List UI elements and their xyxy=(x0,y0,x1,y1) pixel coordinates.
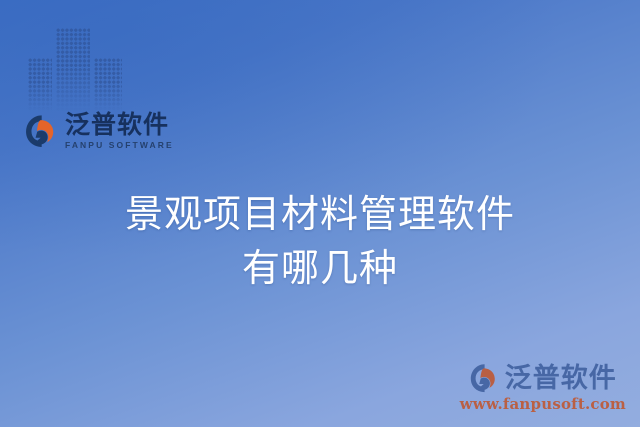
watermark-logo-row: 泛普软件 xyxy=(460,363,626,393)
building-dot-texture xyxy=(28,58,52,112)
watermark-url: www.fanpusoft.com xyxy=(460,395,626,413)
skyline-building-right xyxy=(94,58,122,112)
watermark: 泛普软件 www.fanpusoft.com xyxy=(460,363,626,413)
brand-text-block: 泛普软件 FANPU SOFTWARE xyxy=(65,112,174,150)
fanpu-watermark-icon xyxy=(469,363,499,393)
skyline-graphic xyxy=(28,26,128,112)
brand-lockup: 泛普软件 FANPU SOFTWARE xyxy=(24,112,174,150)
headline-line-1: 景观项目材料管理软件 xyxy=(0,188,640,242)
building-dot-texture xyxy=(56,28,90,112)
skyline-building-left xyxy=(28,58,52,112)
brand-name-en: FANPU SOFTWARE xyxy=(65,141,174,150)
fanpu-logo-icon xyxy=(24,114,58,148)
headline: 景观项目材料管理软件 有哪几种 xyxy=(0,188,640,296)
watermark-name-cn: 泛普软件 xyxy=(505,365,617,392)
headline-line-2: 有哪几种 xyxy=(0,242,640,296)
building-dot-texture xyxy=(94,58,122,112)
promo-banner: 泛普软件 FANPU SOFTWARE 景观项目材料管理软件 有哪几种 泛普软件… xyxy=(0,0,640,427)
skyline-building-center xyxy=(56,28,90,112)
brand-name-cn: 泛普软件 xyxy=(65,112,174,137)
